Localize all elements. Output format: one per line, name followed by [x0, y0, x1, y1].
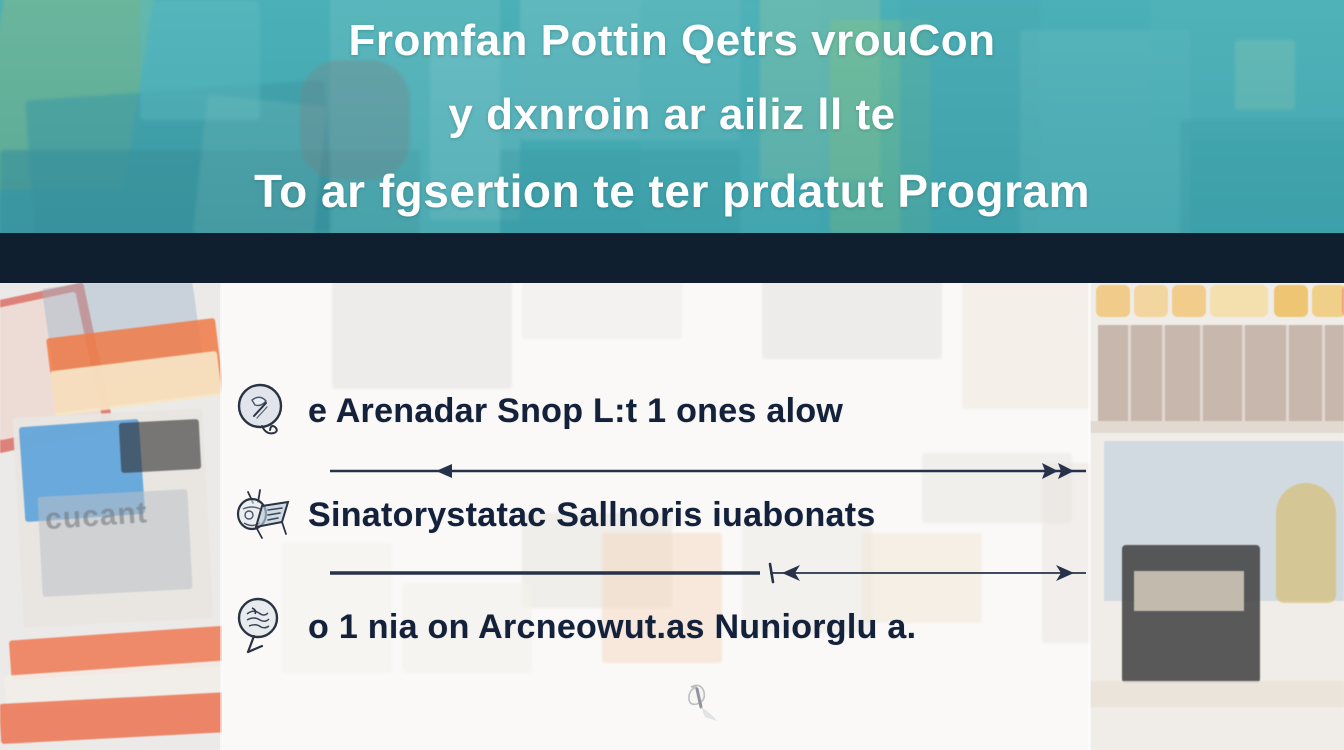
connector-arrow-one — [330, 459, 1086, 483]
header-title-line-2: y dxnroin ar ailiz ll te — [448, 90, 895, 140]
list-item[interactable]: e Arenadar Snop L:t 1 ones alow — [232, 379, 1090, 443]
sketch-circle-badge-icon — [232, 380, 294, 442]
page-header: Fromfan Pottin Qetrs vrouCon y dxnroin a… — [0, 0, 1344, 233]
left-seam-divider — [220, 283, 223, 750]
header-title-line-1: Fromfan Pottin Qetrs vrouCon — [348, 16, 995, 66]
content-panel: e Arenadar Snop L:t 1 ones alow — [222, 283, 1090, 750]
connector-arrow-two — [330, 561, 1086, 585]
left-photo-column-books: cucant — [0, 283, 222, 750]
list-item[interactable]: o 1 nia on Arcneowut.as Nuniorglu a. — [232, 595, 1090, 659]
list-item-label: e Arenadar Snop L:t 1 ones alow — [308, 392, 843, 431]
header-title-line-3: To ar fgsertion te ter prdatut Program — [254, 164, 1090, 218]
pen-doodle-icon — [677, 681, 737, 736]
sketch-circle-stamp-icon — [232, 596, 294, 658]
right-seam-divider — [1088, 283, 1091, 750]
body-area: cucant e Arena — [0, 283, 1344, 750]
sketch-person-device-icon — [232, 484, 294, 546]
list-item-label: Sinatorystatac Sallnoris iuabonats — [308, 496, 876, 535]
header-accent-band — [0, 233, 1344, 283]
right-photo-column-shelves — [1090, 283, 1344, 750]
bullet-list: e Arenadar Snop L:t 1 ones alow — [222, 283, 1090, 750]
header-title-block: Fromfan Pottin Qetrs vrouCon y dxnroin a… — [0, 0, 1344, 233]
list-item-label: o 1 nia on Arcneowut.as Nuniorglu a. — [308, 608, 916, 647]
list-item[interactable]: Sinatorystatac Sallnoris iuabonats — [232, 483, 1090, 547]
